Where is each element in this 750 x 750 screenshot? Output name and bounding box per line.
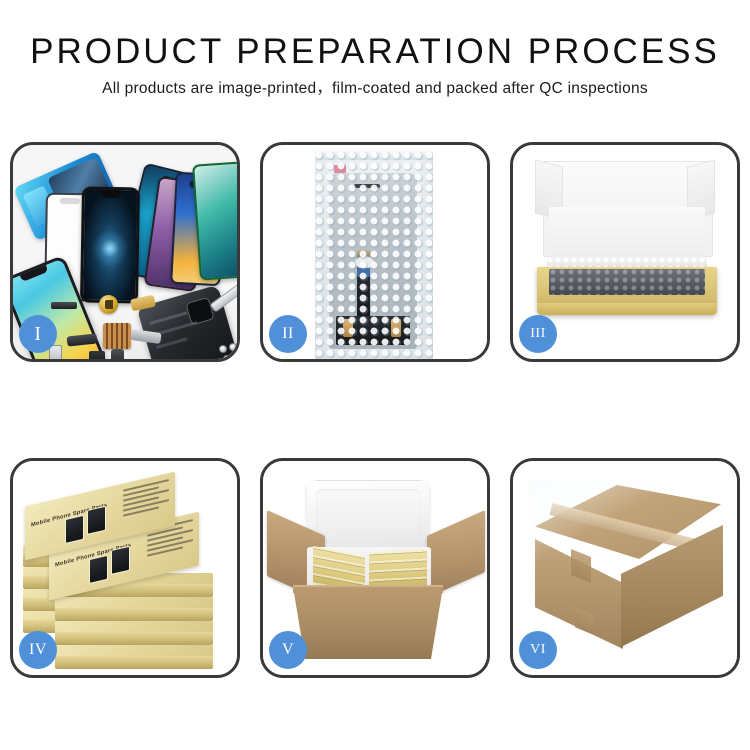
step-panel-3: III xyxy=(510,142,740,362)
wrapped-parts-icon xyxy=(549,269,705,295)
pink-label-icon xyxy=(334,165,346,173)
step-badge-6: VI xyxy=(519,631,557,669)
bubble-wrap-bag-icon xyxy=(315,151,433,359)
chip-grid-icon xyxy=(103,323,131,349)
step-badge-4: IV xyxy=(19,631,57,669)
phone-screen-teal-icon xyxy=(192,161,237,280)
page-title: PRODUCT PREPARATION PROCESS xyxy=(0,30,750,74)
bag-seal xyxy=(315,151,433,160)
step-panel-4: Mobile Phone Spare Parts Mobile Phone Sp… xyxy=(10,458,240,678)
speaker-module-icon xyxy=(89,351,105,359)
stacked-box-f3 xyxy=(55,597,213,621)
vibrator-module-icon xyxy=(111,349,124,359)
step-panel-1: I xyxy=(10,142,240,362)
speaker-coil-icon xyxy=(99,295,118,314)
screen-connector-board-icon xyxy=(336,316,410,346)
tray-front-lip xyxy=(537,303,717,315)
screws-icon xyxy=(219,343,237,359)
lcd-screen-icon xyxy=(329,173,417,349)
step-panel-6: VI xyxy=(510,458,740,678)
box-phone-image-d xyxy=(87,506,106,535)
stacked-box-f4 xyxy=(55,621,213,645)
step-panel-5: V xyxy=(260,458,490,678)
product-preparation-infographic: PRODUCT PREPARATION PROCESS All products… xyxy=(0,0,750,750)
phone-screen-black-icon xyxy=(80,187,140,304)
step-badge-2: II xyxy=(269,315,307,353)
earpiece-bar-icon xyxy=(51,302,77,309)
foam-lid-icon xyxy=(307,481,429,547)
box-spec-lines-1 xyxy=(123,479,169,524)
step-badge-1: I xyxy=(19,315,57,353)
box-phone-image-b xyxy=(111,546,130,575)
steps-grid: I II xyxy=(10,142,740,678)
box-phone-image-a xyxy=(89,555,108,584)
header: PRODUCT PREPARATION PROCESS All products… xyxy=(0,30,750,100)
page-subtitle: All products are image-printed，film-coat… xyxy=(0,78,750,100)
step-badge-3: III xyxy=(519,315,557,353)
step-badge-5: V xyxy=(269,631,307,669)
step-panel-2: II xyxy=(260,142,490,362)
box-phone-image-c xyxy=(65,515,84,544)
yellow-box-tray-icon xyxy=(537,267,717,315)
carton-front-panel-icon xyxy=(293,587,443,659)
stacked-box-f5 xyxy=(55,645,213,669)
